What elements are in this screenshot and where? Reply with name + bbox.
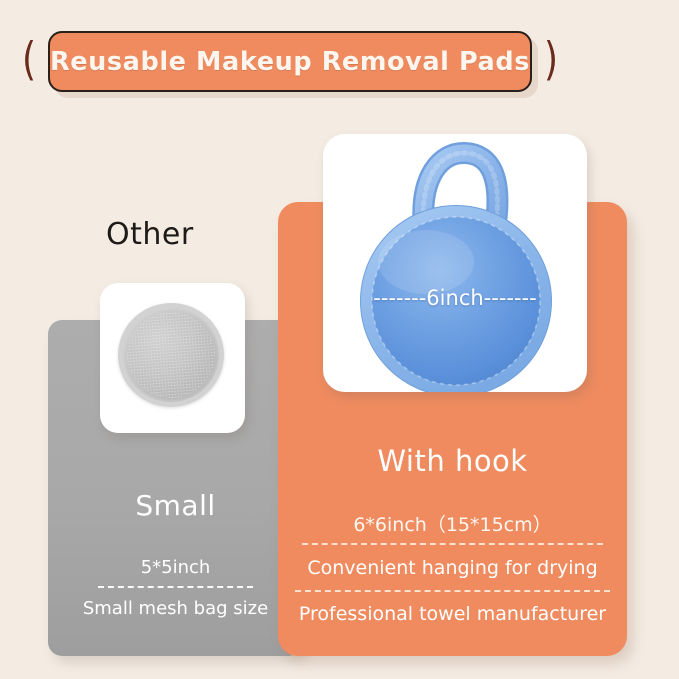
featured-title: With hook xyxy=(278,444,627,478)
featured-size: 6*6inch（15*15cm） xyxy=(278,510,627,537)
blue-round-pad-with-hook-icon xyxy=(323,134,587,392)
other-product-photo-card xyxy=(100,283,245,433)
featured-feature-2: Professional towel manufacturer xyxy=(278,603,627,625)
page-title: Reusable Makeup Removal Pads xyxy=(50,47,530,77)
right-paren-icon: ) xyxy=(544,38,558,83)
title-badge: ( Reusable Makeup Removal Pads ) xyxy=(48,31,532,92)
featured-divider-2 xyxy=(295,590,610,592)
other-title: Small xyxy=(48,489,303,522)
left-paren-icon: ( xyxy=(22,38,36,83)
featured-product-photo-card: -------6inch------- xyxy=(323,134,587,392)
featured-divider-1 xyxy=(302,543,603,545)
other-heading: Other xyxy=(106,217,194,252)
product-infographic: ( Reusable Makeup Removal Pads ) Other xyxy=(0,0,679,679)
other-size: 5*5inch xyxy=(48,557,303,578)
other-note: Small mesh bag size xyxy=(48,598,303,619)
gray-mesh-pad-icon xyxy=(100,283,245,433)
other-divider xyxy=(98,586,253,588)
featured-feature-1: Convenient hanging for drying xyxy=(278,557,627,579)
